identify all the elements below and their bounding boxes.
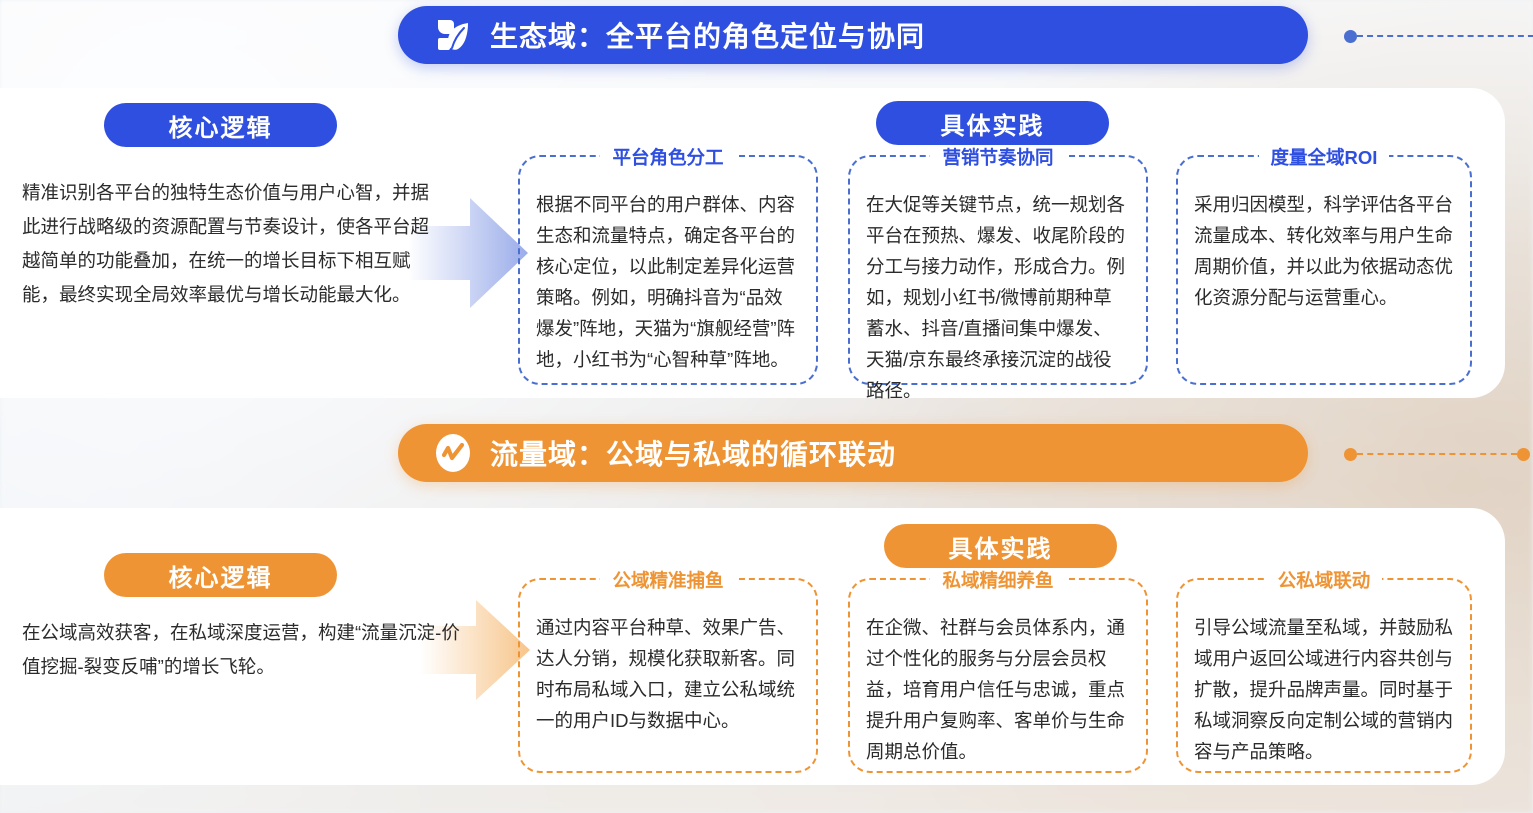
practice-card-traffic-1: 私域精细养鱼 在企微、社群与会员体系内，通过个性化的服务与分层会员权益，培育用户… bbox=[848, 578, 1148, 773]
section-header-traffic: 流量域：公域与私域的循环联动 bbox=[398, 424, 1308, 482]
practice-card-body: 采用归因模型，科学评估各平台流量成本、转化效率与用户生命周期价值，并以此为依据动… bbox=[1194, 189, 1454, 313]
practice-card-traffic-0: 公域精准捕鱼 通过内容平台种草、效果广告、达人分销，规模化获取新客。同时布局私域… bbox=[518, 578, 818, 773]
badge-core-logic-eco: 核心逻辑 bbox=[104, 103, 337, 147]
connector-dot-right bbox=[1517, 448, 1530, 461]
practice-card-title-text: 度量全域ROI bbox=[1259, 147, 1390, 168]
badge-practice-eco: 具体实践 bbox=[876, 101, 1109, 145]
core-logic-text-traffic: 在公域高效获客，在私域深度运营，构建“流量沉淀-价值挖掘-裂变反哺”的增长飞轮。 bbox=[22, 616, 467, 684]
section-title-traffic: 流量域：公域与私域的循环联动 bbox=[490, 433, 896, 473]
practice-card-title-text: 营销节奏协同 bbox=[930, 147, 1065, 168]
practice-card-title-text: 公私域联动 bbox=[1266, 570, 1383, 591]
practice-card-body: 在大促等关键节点，统一规划各平台在预热、爆发、收尾阶段的分工与接力动作，形成合力… bbox=[866, 189, 1130, 406]
section-header-eco: 生态域：全平台的角色定位与协同 bbox=[398, 6, 1308, 64]
practice-card-traffic-2: 公私域联动 引导公域流量至私域，并鼓励私域用户返回公域进行内容共创与扩散，提升品… bbox=[1176, 578, 1472, 773]
leaf-sprout-icon bbox=[432, 14, 474, 56]
badge-core-logic-traffic: 核心逻辑 bbox=[104, 553, 337, 597]
practice-card-title-text: 公域精准捕鱼 bbox=[600, 570, 735, 591]
practice-card-title: 平台角色分工 bbox=[520, 144, 816, 170]
practice-card-body: 引导公域流量至私域，并鼓励私域用户返回公域进行内容共创与扩散，提升品牌声量。同时… bbox=[1194, 612, 1454, 767]
connector-dash bbox=[1357, 453, 1517, 455]
practice-card-title-text: 私域精细养鱼 bbox=[930, 570, 1065, 591]
connector-line-eco bbox=[1344, 29, 1533, 43]
practice-card-title: 公私域联动 bbox=[1178, 567, 1470, 593]
practice-card-title-text: 平台角色分工 bbox=[600, 147, 735, 168]
practice-card-title: 公域精准捕鱼 bbox=[520, 567, 816, 593]
check-chart-circle-icon bbox=[432, 432, 474, 474]
practice-card-title: 营销节奏协同 bbox=[850, 144, 1146, 170]
practice-card-title: 度量全域ROI bbox=[1178, 144, 1470, 170]
practice-card-eco-1: 营销节奏协同 在大促等关键节点，统一规划各平台在预热、爆发、收尾阶段的分工与接力… bbox=[848, 155, 1148, 385]
connector-dot-left bbox=[1344, 448, 1357, 461]
connector-dash bbox=[1357, 35, 1533, 37]
core-logic-text-eco: 精准识别各平台的独特生态价值与用户心智，并据此进行战略级的资源配置与节奏设计，使… bbox=[22, 176, 437, 312]
practice-card-eco-2: 度量全域ROI 采用归因模型，科学评估各平台流量成本、转化效率与用户生命周期价值… bbox=[1176, 155, 1472, 385]
practice-card-title: 私域精细养鱼 bbox=[850, 567, 1146, 593]
section-title-eco: 生态域：全平台的角色定位与协同 bbox=[490, 15, 925, 55]
connector-dot bbox=[1344, 30, 1357, 43]
badge-practice-traffic: 具体实践 bbox=[884, 524, 1117, 568]
practice-card-body: 根据不同平台的用户群体、内容生态和流量特点，确定各平台的核心定位，以此制定差异化… bbox=[536, 189, 800, 375]
practice-card-eco-0: 平台角色分工 根据不同平台的用户群体、内容生态和流量特点，确定各平台的核心定位，… bbox=[518, 155, 818, 385]
connector-line-traffic bbox=[1344, 447, 1530, 461]
infographic-stage: 生态域：全平台的角色定位与协同 核心逻辑 具体实践 精准识别各平台的独特生态价值… bbox=[0, 0, 1533, 813]
practice-card-body: 在企微、社群与会员体系内，通过个性化的服务与分层会员权益，培育用户信任与忠诚，重… bbox=[866, 612, 1130, 767]
practice-card-body: 通过内容平台种草、效果广告、达人分销，规模化获取新客。同时布局私域入口，建立公私… bbox=[536, 612, 800, 736]
